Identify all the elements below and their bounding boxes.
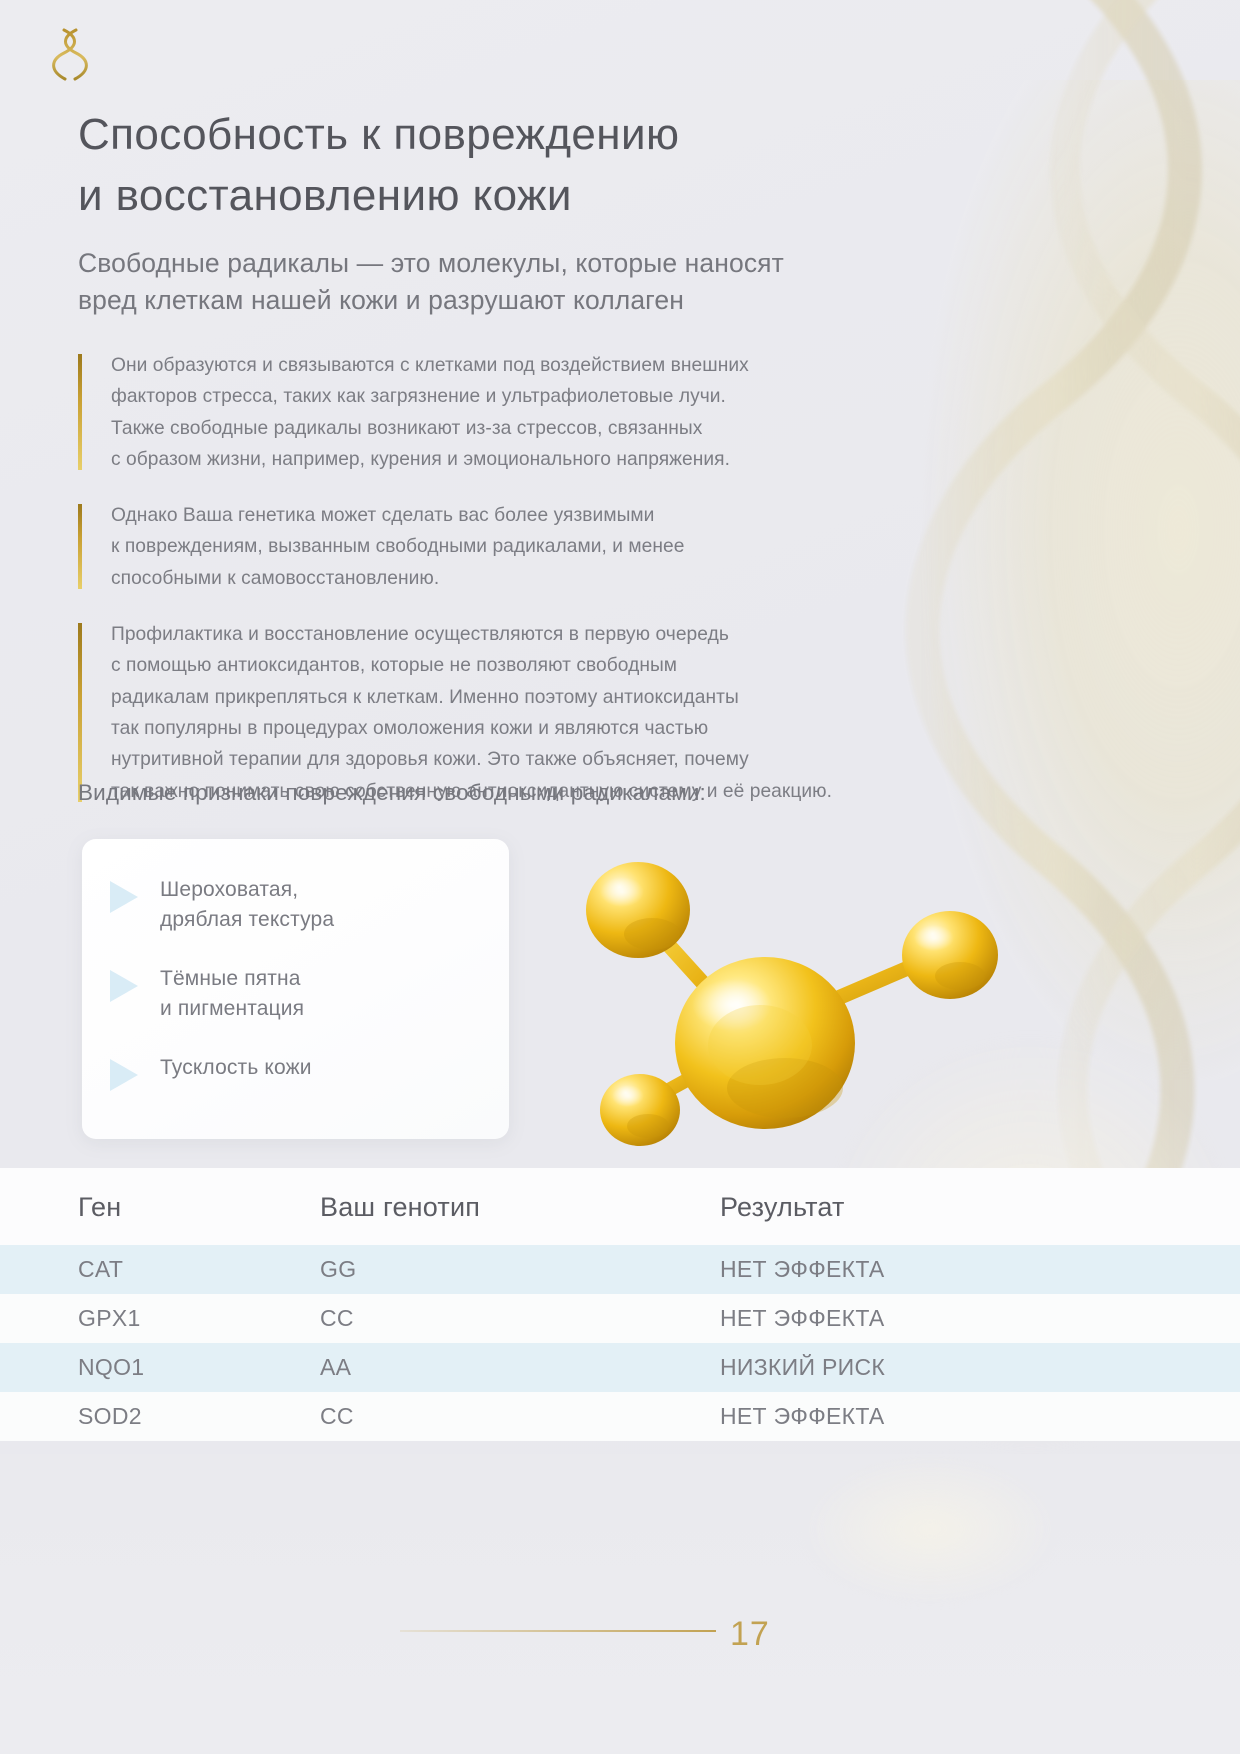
table-row: GPX1 CC НЕТ ЭФФЕКТА bbox=[0, 1294, 1240, 1343]
results-table-container: Ген Ваш генотип Результат CAT GG НЕТ ЭФФ… bbox=[0, 1168, 1240, 1441]
table-row: CAT GG НЕТ ЭФФЕКТА bbox=[0, 1245, 1240, 1294]
column-header-result: Результат bbox=[720, 1168, 1240, 1245]
cell-result: НЕТ ЭФФЕКТА bbox=[720, 1294, 1240, 1343]
triangle-right-icon bbox=[110, 881, 138, 913]
cell-gene: CAT bbox=[0, 1245, 320, 1294]
results-table: Ген Ваш генотип Результат CAT GG НЕТ ЭФФ… bbox=[0, 1168, 1240, 1441]
cell-genotype: CC bbox=[320, 1294, 720, 1343]
cell-result: НИЗКИЙ РИСК bbox=[720, 1343, 1240, 1392]
page-number: 17 bbox=[730, 1615, 770, 1654]
cell-gene: NQO1 bbox=[0, 1343, 320, 1392]
cell-gene: GPX1 bbox=[0, 1294, 320, 1343]
list-item-label: Тусклость кожи bbox=[160, 1053, 312, 1083]
list-item: Шероховатая, дряблая текстура bbox=[110, 875, 489, 935]
body-paragraph-text: Они образуются и связываются с клетками … bbox=[111, 350, 938, 475]
body-paragraph-text: Однако Ваша генетика может сделать вас б… bbox=[111, 500, 938, 594]
list-item-label: Тёмные пятна и пигментация bbox=[160, 964, 304, 1024]
table-row: SOD2 CC НЕТ ЭФФЕКТА bbox=[0, 1392, 1240, 1441]
cell-result: НЕТ ЭФФЕКТА bbox=[720, 1245, 1240, 1294]
footer-background-glow bbox=[800, 1454, 1060, 1604]
cell-genotype: GG bbox=[320, 1245, 720, 1294]
body-paragraph: Профилактика и восстановление осуществля… bbox=[78, 619, 938, 807]
list-item: Тёмные пятна и пигментация bbox=[110, 964, 489, 1024]
body-paragraph-list: Они образуются и связываются с клетками … bbox=[78, 350, 938, 807]
column-header-genotype: Ваш генотип bbox=[320, 1168, 720, 1245]
report-page: Способность к повреждению и восстановлен… bbox=[0, 0, 1240, 1754]
triangle-right-icon bbox=[110, 970, 138, 1002]
list-item-label: Шероховатая, дряблая текстура bbox=[160, 875, 334, 935]
visible-signs-heading: Видимые признаки повреждения свободными … bbox=[78, 780, 706, 806]
table-header-row: Ген Ваш генотип Результат bbox=[0, 1168, 1240, 1245]
body-paragraph: Они образуются и связываются с клетками … bbox=[78, 350, 938, 475]
gold-accent-bar bbox=[78, 504, 82, 589]
footer-divider bbox=[400, 1630, 716, 1632]
results-table-header: Ген Ваш генотип Результат bbox=[0, 1168, 1240, 1245]
visible-signs-card: Шероховатая, дряблая текстура Тёмные пят… bbox=[82, 839, 509, 1139]
cell-gene: SOD2 bbox=[0, 1392, 320, 1441]
cell-genotype: CC bbox=[320, 1392, 720, 1441]
cell-result: НЕТ ЭФФЕКТА bbox=[720, 1392, 1240, 1441]
visible-signs-list: Шероховатая, дряблая текстура Тёмные пят… bbox=[110, 875, 489, 1091]
dna-helix-logo-icon bbox=[48, 26, 92, 84]
column-header-gene: Ген bbox=[0, 1168, 320, 1245]
gold-accent-bar bbox=[78, 354, 82, 470]
body-paragraph: Однако Ваша генетика может сделать вас б… bbox=[78, 500, 938, 594]
results-table-body: CAT GG НЕТ ЭФФЕКТА GPX1 CC НЕТ ЭФФЕКТА N… bbox=[0, 1245, 1240, 1441]
triangle-right-icon bbox=[110, 1059, 138, 1091]
cell-genotype: AA bbox=[320, 1343, 720, 1392]
page-title: Способность к повреждению и восстановлен… bbox=[78, 104, 958, 226]
list-item: Тусклость кожи bbox=[110, 1053, 489, 1091]
page-subtitle: Свободные радикалы — это молекулы, котор… bbox=[78, 245, 958, 319]
gold-molecule-illustration bbox=[560, 830, 1030, 1160]
body-paragraph-text: Профилактика и восстановление осуществля… bbox=[111, 619, 938, 807]
page-footer: 17 bbox=[0, 1454, 1240, 1754]
table-row: NQO1 AA НИЗКИЙ РИСК bbox=[0, 1343, 1240, 1392]
gold-accent-bar bbox=[78, 623, 82, 802]
